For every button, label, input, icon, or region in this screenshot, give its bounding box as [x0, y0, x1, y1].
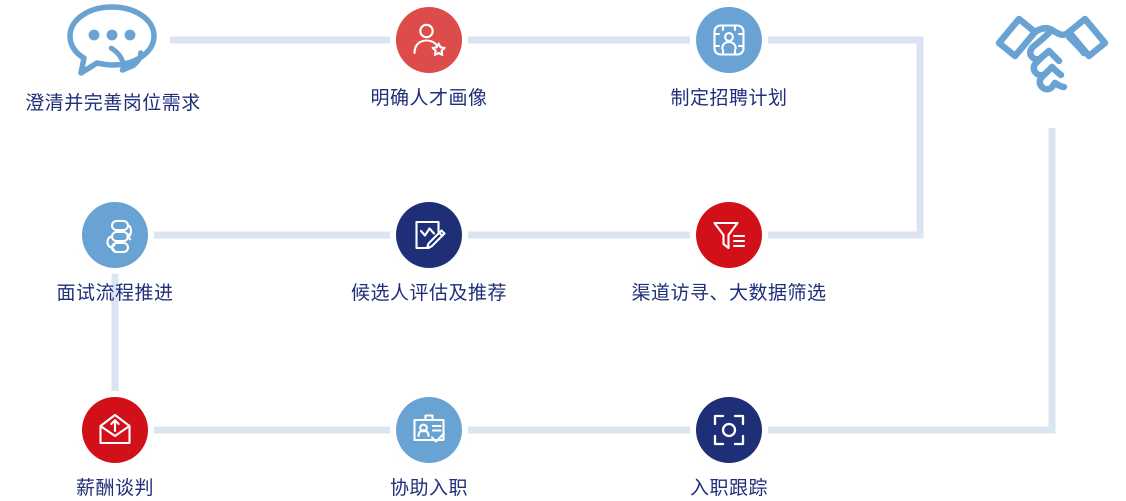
document-pencil-icon	[410, 216, 448, 254]
node-clarify-requirements[interactable]: 澄清并完善岗位需求	[0, 2, 233, 116]
person-star-icon-wrap	[396, 7, 462, 73]
id-badge-check-icon-wrap	[396, 397, 462, 463]
node-interview-process[interactable]: 面试流程推进	[0, 202, 235, 306]
handshake-icon	[991, 7, 1113, 99]
focus-target-icon-wrap	[696, 397, 762, 463]
envelope-arrow-icon	[96, 411, 134, 449]
node-candidate-assessment[interactable]: 候选人评估及推荐	[309, 202, 549, 306]
recruitment-flow-diagram: 澄清并完善岗位需求 明确人才画像	[0, 0, 1126, 501]
node-label: 澄清并完善岗位需求	[0, 92, 233, 116]
envelope-arrow-icon-wrap	[82, 397, 148, 463]
funnel-filter-icon	[710, 216, 748, 254]
focus-target-icon	[710, 411, 748, 449]
node-label: 协助入职	[309, 477, 549, 501]
speech-bubble-icon	[61, 2, 165, 78]
node-label: 制定招聘计划	[609, 87, 849, 111]
node-recruitment-plan[interactable]: 制定招聘计划	[609, 7, 849, 111]
speech-bubble-icon-wrap	[61, 2, 165, 78]
node-label: 薪酬谈判	[0, 477, 235, 501]
workflow-icon	[96, 216, 134, 254]
node-label: 渠道访寻、大数据筛选	[609, 282, 849, 306]
node-label: 候选人评估及推荐	[309, 282, 549, 306]
node-channel-sourcing[interactable]: 渠道访寻、大数据筛选	[609, 202, 849, 306]
funnel-filter-icon-wrap	[696, 202, 762, 268]
node-talent-profile[interactable]: 明确人才画像	[309, 7, 549, 111]
node-label: 入职跟踪	[609, 477, 849, 501]
person-frame-icon	[710, 21, 748, 59]
handshake-icon-wrap	[991, 7, 1113, 104]
document-pencil-icon-wrap	[396, 202, 462, 268]
node-onboarding-tracking[interactable]: 入职跟踪	[609, 397, 849, 501]
node-label: 明确人才画像	[309, 87, 549, 111]
node-label: 面试流程推进	[0, 282, 235, 306]
workflow-icon-wrap	[82, 202, 148, 268]
node-onboarding-support[interactable]: 协助入职	[309, 397, 549, 501]
id-badge-check-icon	[410, 411, 448, 449]
person-star-icon	[410, 21, 448, 59]
person-frame-icon-wrap	[696, 7, 762, 73]
node-salary-negotiation[interactable]: 薪酬谈判	[0, 397, 235, 501]
